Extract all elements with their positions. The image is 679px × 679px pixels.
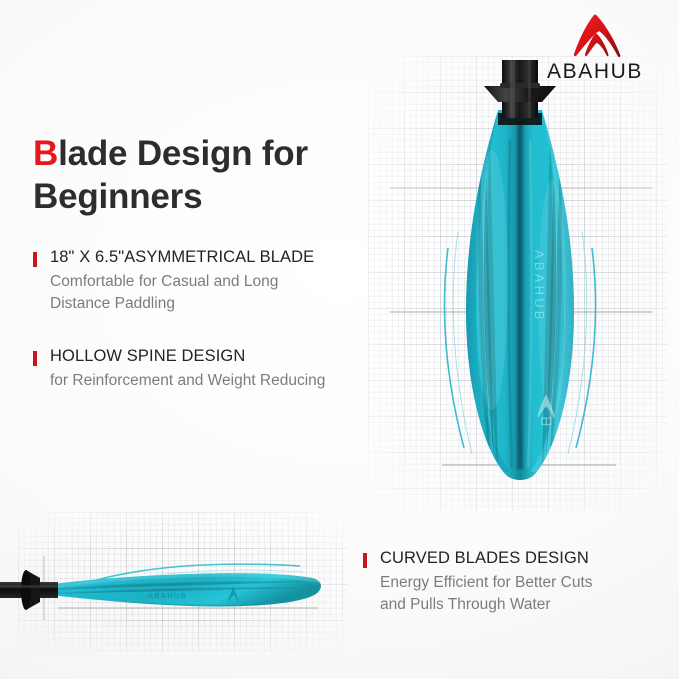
feature-description-line: Energy Efficient for Better Cuts [363,572,663,594]
bullet-marker-icon [33,252,37,267]
headline-accent-letter: B [33,134,58,173]
page-title: Blade Design for Beginners [33,133,363,218]
bullet-marker-icon [33,351,37,366]
headline-line-1: lade Design for [58,134,308,173]
side-blade-brand-text: ABAHUB [148,591,187,600]
feature-item-curved-blades-design: CURVED BLADES DESIGN Energy Efficient fo… [363,548,663,616]
bullet-marker-icon [363,553,367,568]
feature-title: HOLLOW SPINE DESIGN [33,346,385,367]
feature-title: 18" X 6.5"ASYMMETRICAL BLADE [33,247,373,268]
blade-brand-text: ABAHUB [532,250,547,323]
feature-title: CURVED BLADES DESIGN [363,548,663,569]
paddle-blade-front-view: ABAHUB [380,50,660,520]
feature-description-line: Distance Paddling [33,293,373,315]
feature-item-hollow-spine-design: HOLLOW SPINE DESIGN for Reinforcement an… [33,346,385,392]
infographic-page: ABAHUB Blade Design for Beginners 18" X … [0,0,679,679]
side-paddle-shaft [0,570,58,610]
feature-item-asymmetrical-blade: 18" X 6.5"ASYMMETRICAL BLADE Comfortable… [33,247,373,315]
headline-line-2: Beginners [33,177,202,216]
feature-description-line: Comfortable for Casual and Long [33,271,373,293]
paddle-blade-side-profile-view: ABAHUB [0,540,345,640]
feature-description-line: and Pulls Through Water [363,594,663,616]
feature-description-line: for Reinforcement and Weight Reducing [33,370,385,392]
paddle-shaft [484,60,556,125]
